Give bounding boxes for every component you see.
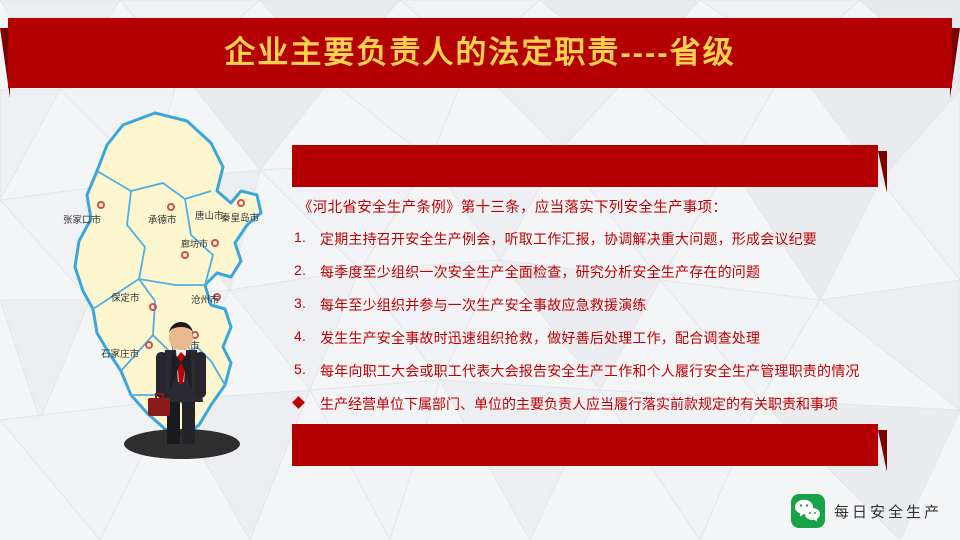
list-item: 定期主持召开安全生产例会，听取工作汇报，协调解决重大问题，形成会议纪要: [320, 229, 952, 249]
content-top-bar: [292, 145, 878, 187]
content-block: 《河北省安全生产条例》第十三条，应当落实下列安全生产事项： 定期主持召开安全生产…: [292, 196, 952, 414]
wechat-icon: [791, 494, 825, 528]
list-item: 每年向职工大会或职工代表大会报告安全生产工作和个人履行安全生产管理职责的情况: [320, 361, 952, 381]
figure-leg-right: [182, 398, 195, 444]
list-item: 每年至少组织并参与一次生产安全事故应急救援演练: [320, 295, 952, 315]
svg-text:廊坊市: 廊坊市: [181, 238, 208, 249]
list-item: 发生生产安全事故时迅速组织抢救，做好善后处理工作，配合调查处理: [320, 328, 952, 348]
svg-text:秦皇岛市: 秦皇岛市: [221, 212, 260, 224]
svg-text:唐山市: 唐山市: [195, 210, 224, 222]
map-city-cangzhou: 沧州市: [191, 294, 220, 306]
slide-title-bar: 企业主要负责人的法定职责----省级: [0, 18, 960, 88]
regulation-lead-text: 《河北省安全生产条例》第十三条，应当落实下列安全生产事项：: [298, 196, 952, 217]
footer-brand: 每日安全生产: [791, 494, 942, 528]
svg-text:保定市: 保定市: [111, 292, 140, 304]
svg-text:张家口市: 张家口市: [63, 214, 102, 226]
footer-brand-text: 每日安全生产: [834, 501, 942, 522]
figure-briefcase: [148, 398, 170, 416]
figure-arm-left: [156, 352, 167, 398]
diamond-bullet-icon: [292, 396, 305, 409]
figure-head: [169, 326, 193, 350]
svg-text:承德市: 承德市: [148, 214, 177, 226]
duty-list: 定期主持召开安全生产例会，听取工作汇报，协调解决重大问题，形成会议纪要 每季度至…: [292, 229, 952, 381]
note-text: 生产经营单位下属部门、单位的主要负责人应当履行落实前款规定的有关职责和事项: [320, 396, 838, 412]
svg-text:沧州市: 沧州市: [191, 294, 220, 306]
page-title: 企业主要负责人的法定职责----省级: [8, 18, 952, 88]
title-band: 企业主要负责人的法定职责----省级: [8, 18, 952, 88]
note-row: 生产经营单位下属部门、单位的主要负责人应当履行落实前款规定的有关职责和事项: [292, 394, 952, 414]
figure-arm-right: [195, 352, 206, 398]
content-bottom-bar: [292, 424, 878, 466]
businessman-illustration: [120, 310, 240, 460]
list-item: 每季度至少组织一次安全生产全面检查，研究分析安全生产存在的问题: [320, 262, 952, 282]
